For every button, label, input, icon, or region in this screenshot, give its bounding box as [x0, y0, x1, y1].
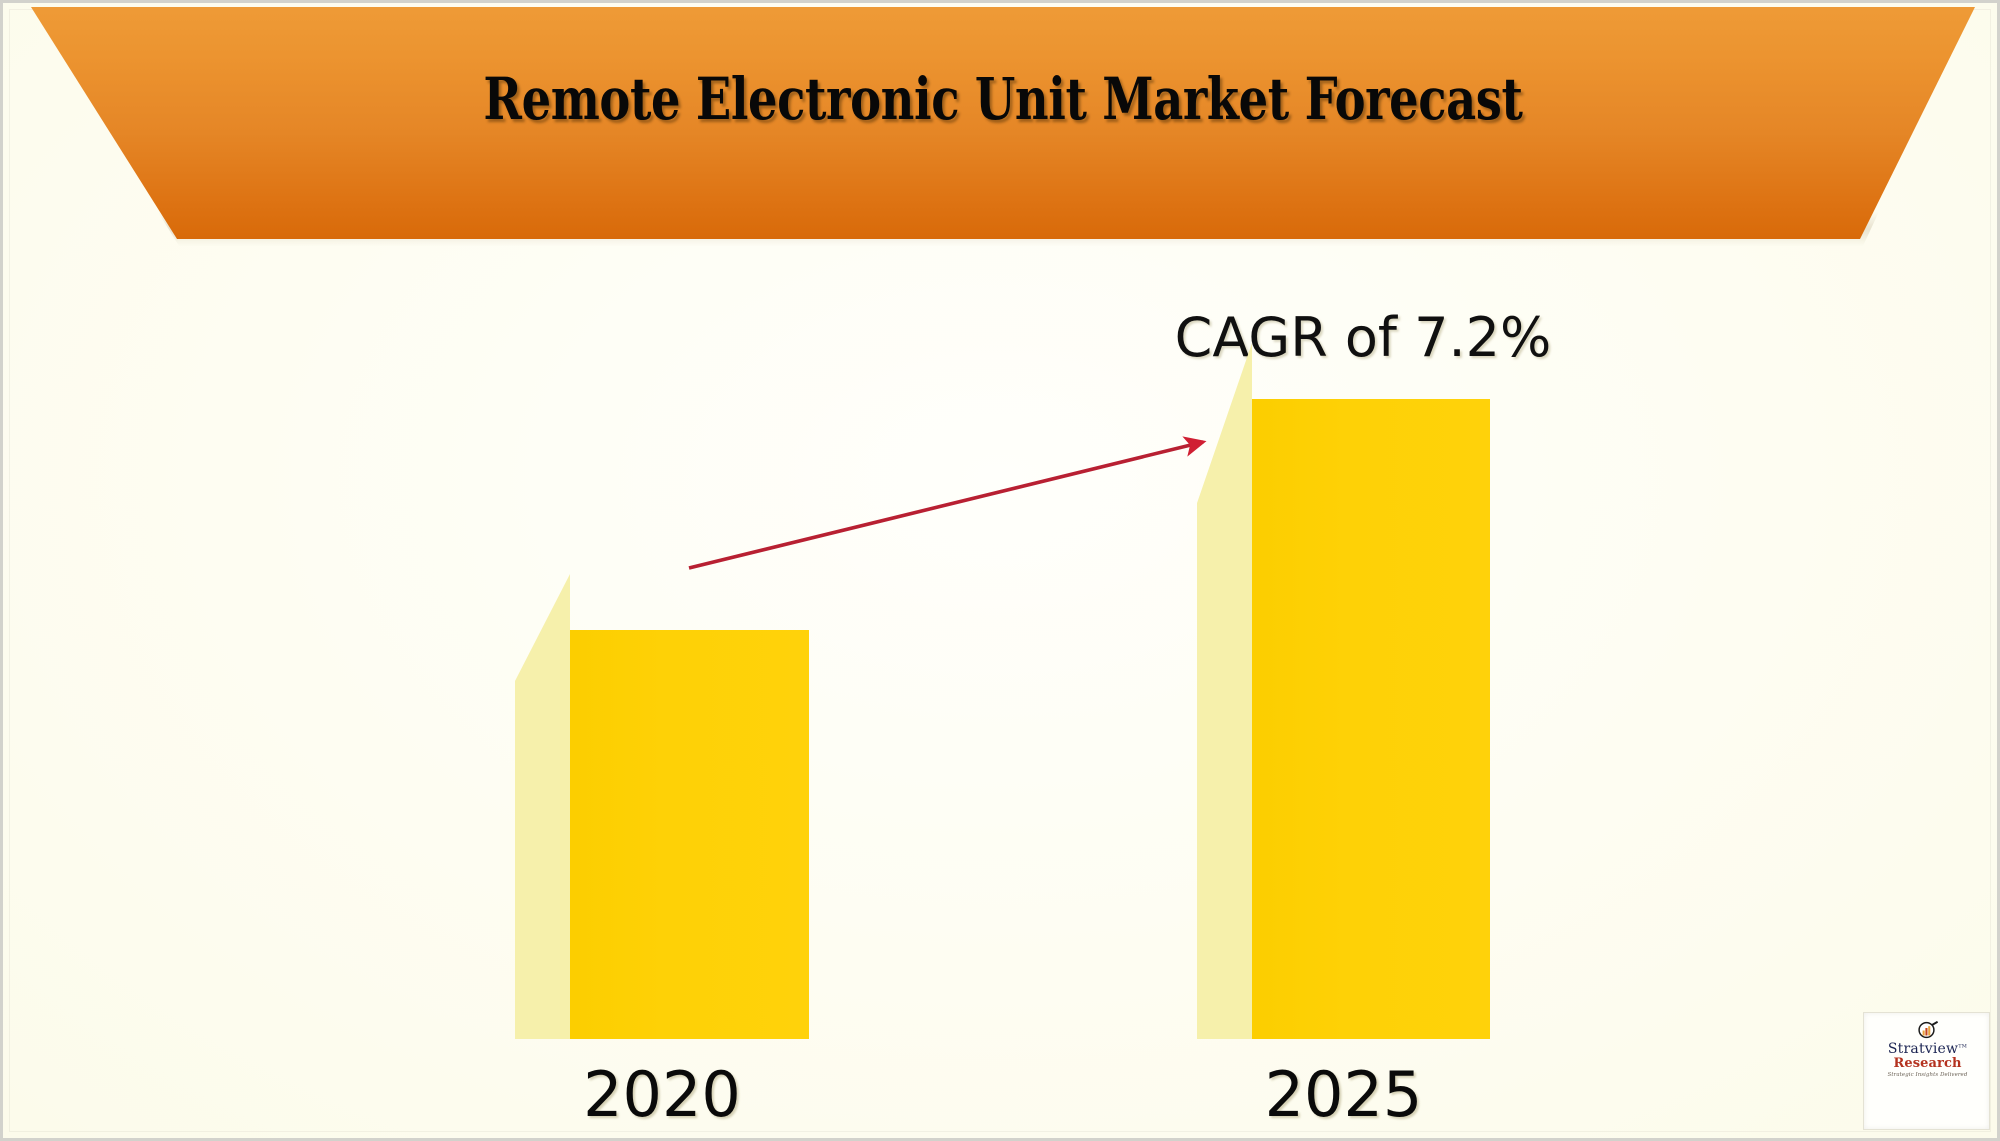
- bar-2020-side-face: [515, 574, 570, 1039]
- bar-2025[interactable]: 2025: [1197, 343, 1490, 1039]
- bar-2025-side-face: [1197, 343, 1252, 1039]
- bar-2025-category-label: 2025: [1197, 1058, 1490, 1131]
- page-title: Remote Electronic Unit Market Forecast: [203, 65, 1803, 133]
- logo-tagline: Strategic Insights Delivered: [1864, 1072, 1990, 1078]
- logo-primary-name: StratviewTM: [1864, 1042, 1990, 1057]
- logo-primary-text: Stratview: [1888, 1041, 1958, 1057]
- slide-canvas: Remote Electronic Unit Market Forecast C…: [0, 0, 2000, 1141]
- header-banner: Remote Electronic Unit Market Forecast: [3, 3, 2000, 239]
- logo-secondary-name: Research: [1864, 1057, 1990, 1071]
- growth-arrow-icon: [3, 239, 2000, 1141]
- stratview-research-logo[interactable]: StratviewTM Research Strategic Insights …: [1863, 1012, 1990, 1130]
- chart-plot-area: CAGR of 7.2% 2020 2025: [3, 239, 2000, 1141]
- magnifier-bar-chart-icon: [1917, 1021, 1939, 1041]
- bar-2020-category-label: 2020: [515, 1058, 809, 1131]
- bar-2020-front-face: [570, 630, 809, 1039]
- bar-2020[interactable]: 2020: [515, 574, 809, 1039]
- bar-2025-front-face: [1252, 399, 1490, 1039]
- logo-trademark: TM: [1958, 1043, 1967, 1049]
